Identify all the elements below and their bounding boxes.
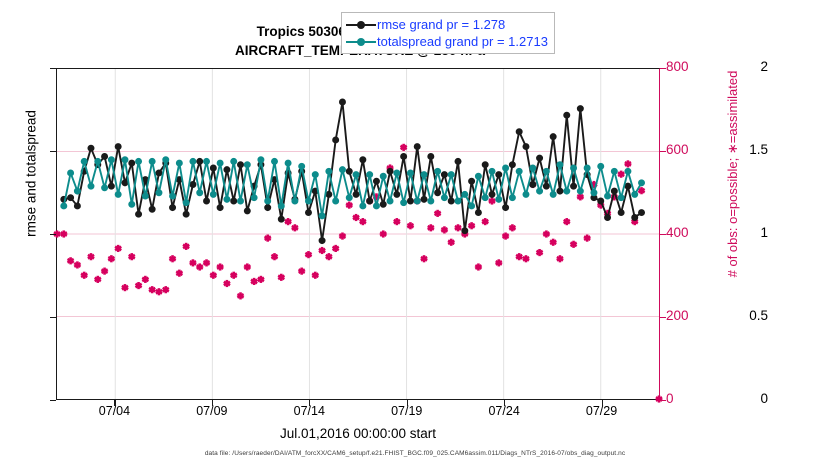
legend-label-totalspread: totalspread grand pr = 1.2713	[376, 33, 548, 50]
x-tick-label-3: 07/19	[372, 404, 442, 418]
x-tick-label-1: 07/09	[177, 404, 247, 418]
y-tick-mark-right-2	[660, 234, 666, 235]
y-tick-mark-left-0	[50, 400, 56, 401]
y-tick-mark-left-2	[50, 234, 56, 235]
data-file-footer: data file: /Users/raeder/DAI/ATM_forcXX/…	[0, 450, 830, 457]
y-tick-mark-left-1	[50, 317, 56, 318]
legend-label-rmse: rmse grand pr = 1.278	[376, 16, 505, 33]
x-tick-label-4: 07/24	[469, 404, 539, 418]
x-tick-label-5: 07/29	[567, 404, 637, 418]
y-axis-label-left: rmse and totalspread	[24, 9, 39, 339]
y-tick-label-right-4: 800	[666, 59, 712, 74]
y-tick-label-left-0: 0	[724, 391, 768, 406]
x-tick-mark-4	[504, 400, 505, 406]
x-tick-label-0: 07/04	[79, 404, 149, 418]
legend-item-rmse[interactable]: rmse grand pr = 1.278	[346, 16, 548, 33]
y-tick-label-right-1: 200	[666, 308, 712, 323]
data-layer	[57, 69, 659, 399]
y-tick-label-right-0: 0	[666, 391, 712, 406]
y-tick-label-right-3: 600	[666, 142, 712, 157]
chart-legend: rmse grand pr = 1.278 totalspread grand …	[341, 12, 555, 54]
legend-item-totalspread[interactable]: totalspread grand pr = 1.2713	[346, 33, 548, 50]
x-tick-mark-2	[309, 400, 310, 406]
y-axis-label-right: # of obs: o=possible; ∗=assimilated	[725, 9, 741, 339]
x-tick-mark-3	[407, 400, 408, 406]
x-tick-mark-1	[212, 400, 213, 406]
legend-swatch-rmse-icon	[346, 18, 376, 32]
y-tick-mark-right-1	[660, 317, 666, 318]
y-tick-mark-right-0	[660, 400, 666, 401]
x-tick-mark-5	[602, 400, 603, 406]
y-tick-mark-right-4	[660, 68, 666, 69]
x-tick-mark-0	[114, 400, 115, 406]
y-tick-mark-left-4	[50, 68, 56, 69]
plot-area	[56, 68, 660, 400]
x-axis-label: Jul.01,2016 00:00:00 start	[56, 426, 660, 441]
y-tick-label-right-2: 400	[666, 225, 712, 240]
legend-swatch-totalspread-icon	[346, 35, 376, 49]
x-tick-label-2: 07/14	[274, 404, 344, 418]
y-tick-mark-left-3	[50, 151, 56, 152]
figure-canvas: Tropics 50306 / 50588 = 99.443% AIRCRAFT…	[0, 0, 830, 470]
y-tick-mark-right-3	[660, 151, 666, 152]
